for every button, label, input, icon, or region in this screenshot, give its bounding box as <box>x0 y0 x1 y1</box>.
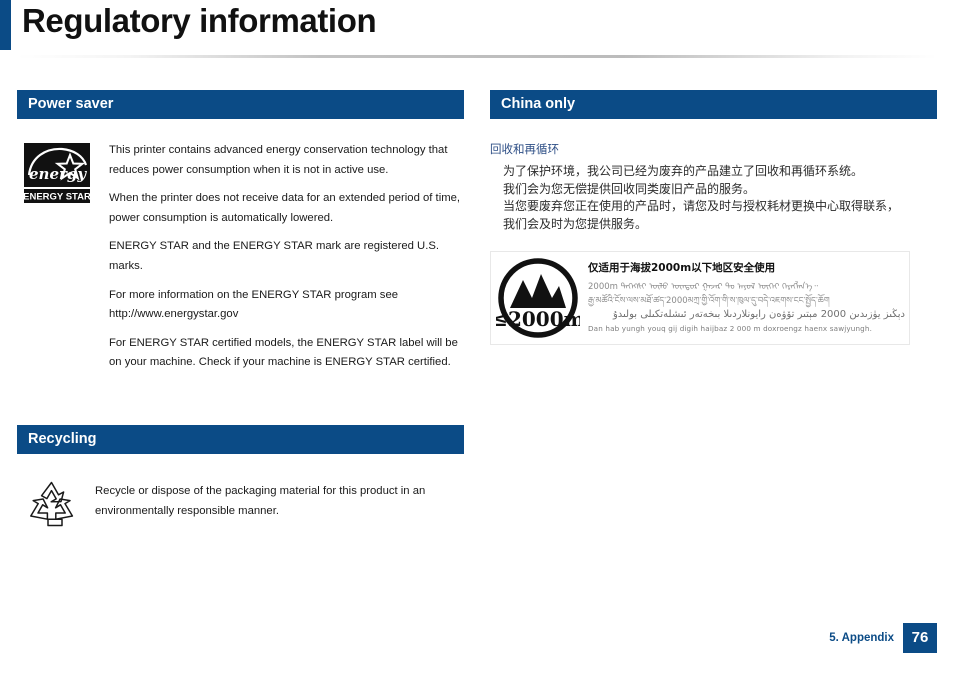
section-header-recycling: Recycling <box>17 425 464 454</box>
power-saver-paragraphs: This printer contains advanced energy co… <box>109 141 464 373</box>
section-header-china-only: China only <box>490 90 937 119</box>
altitude-warning-figure: ≤2000m 仅适用于海拔2000m以下地区安全使用 2000m ᠳᠡᠭᠡᠭᠰᠢ… <box>490 251 910 345</box>
left-column: Power saver energy ENERGY STAR This prin… <box>17 90 464 535</box>
energy-star-logo-cell: energy ENERGY STAR <box>17 141 90 208</box>
china-line: 我们会为您无偿提供回收同类废旧产品的服务。 <box>490 181 937 199</box>
paragraph: When the printer does not receive data f… <box>109 189 464 228</box>
title-divider <box>17 55 937 58</box>
title-accent-bar <box>0 0 11 50</box>
paragraph: For more information on the ENERGY STAR … <box>109 286 464 325</box>
altitude-symbol-label: ≤2000m <box>496 307 580 331</box>
section-body-china-only: 回收和再循环 为了保护环境，我公司已经为废弃的产品建立了回收和再循环系统。 我们… <box>490 119 937 345</box>
altitude-text-block: 仅适用于海拔2000m以下地区安全使用 2000m ᠳᠡᠭᠡᠭᠰᠢ ᠦᠯᠦ ᠥᠨ… <box>588 260 909 336</box>
section-body-recycling: Recycle or dispose of the packaging mate… <box>17 454 464 535</box>
altitude-script-line-uyghur: دېڭىز يۈزىدىن 2000 مېتىر تۆۋەن رايونلارد… <box>588 308 905 322</box>
paragraph: This printer contains advanced energy co… <box>109 141 464 180</box>
china-line: 当您要废弃您正在使用的产品时，请您及时与授权耗材更换中心取得联系， <box>490 198 937 216</box>
section-header-power-saver: Power saver <box>17 90 464 119</box>
page-title: Regulatory information <box>22 2 376 40</box>
page-footer: 5. Appendix 76 <box>829 623 937 653</box>
energy-star-logo-caption: ENERGY STAR <box>24 192 90 203</box>
paragraph: ENERGY STAR and the ENERGY STAR mark are… <box>109 237 464 276</box>
altitude-cn-title: 仅适用于海拔2000m以下地区安全使用 <box>588 260 905 275</box>
paragraph: For ENERGY STAR certified models, the EN… <box>109 334 464 373</box>
section-body-power-saver: energy ENERGY STAR This printer contains… <box>17 119 464 373</box>
altitude-script-line-tibetan: རྒྱ་མཚོའི་ངོས་ལས་མཐོ་ཚད་2000མཀྲ་གྱི་འོག་… <box>588 294 905 308</box>
china-line: 为了保护环境，我公司已经为废弃的产品建立了回收和再循环系统。 <box>490 163 937 181</box>
altitude-script-line-zhuang: Dan hab yungh youq gij digih haijbaz 2 0… <box>588 322 905 336</box>
altitude-limit-icon: ≤2000m <box>496 256 580 340</box>
recycle-icon <box>26 478 78 530</box>
page-header: Regulatory information <box>0 0 954 50</box>
recycling-paragraphs: Recycle or dispose of the packaging mate… <box>95 482 464 521</box>
altitude-script-line-mongolian: 2000m ᠳᠡᠭᠡᠭᠰᠢ ᠦᠯᠦ ᠥᠨᠳᠥᠷ ᠭᠠᠵᠠᠷ ᠲᠤ ᠠᠶᠤᠯ ᠦᠭ… <box>588 280 905 294</box>
right-column: China only 回收和再循环 为了保护环境，我公司已经为废弃的产品建立了回… <box>490 90 937 345</box>
footer-chapter-label: 5. Appendix <box>829 632 894 644</box>
energy-star-icon: energy ENERGY STAR <box>24 143 90 203</box>
china-line: 我们会及时为您提供服务。 <box>490 216 937 234</box>
paragraph: Recycle or dispose of the packaging mate… <box>95 482 464 521</box>
recycle-logo-cell <box>17 476 78 535</box>
footer-page-number: 76 <box>903 623 937 653</box>
china-sub-heading: 回收和再循环 <box>490 141 937 157</box>
